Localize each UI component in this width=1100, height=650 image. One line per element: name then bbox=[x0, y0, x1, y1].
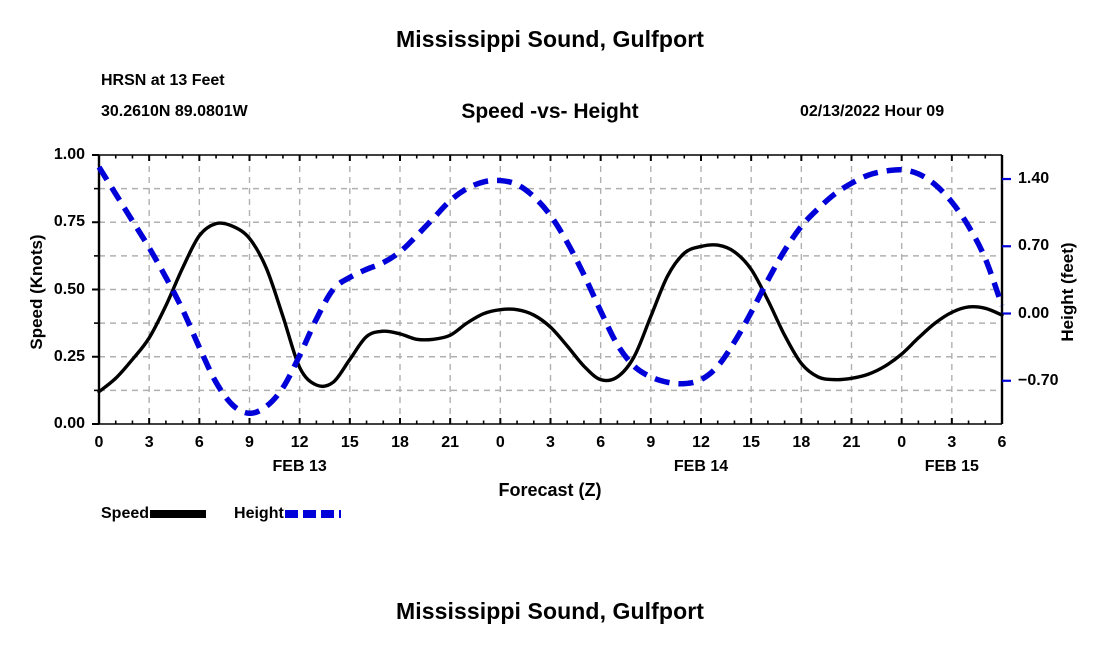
x-axis-tick-label: 3 bbox=[129, 434, 169, 452]
legend-swatch-height-icon bbox=[285, 510, 341, 518]
x-axis-tick-label: 3 bbox=[932, 434, 972, 452]
x-axis-tick-label: 9 bbox=[230, 434, 270, 452]
x-axis-day-label: FEB 14 bbox=[641, 458, 761, 476]
y-axis-left-tick-label: 1.00 bbox=[25, 146, 85, 164]
chart-legend: Speed Height bbox=[101, 505, 341, 523]
legend-label-speed: Speed bbox=[101, 505, 149, 523]
y-axis-right-tick-label: 1.40 bbox=[1018, 170, 1088, 188]
x-axis-tick-label: 6 bbox=[581, 434, 621, 452]
x-axis-tick-label: 15 bbox=[731, 434, 771, 452]
x-axis-day-label: FEB 15 bbox=[892, 458, 1012, 476]
y-axis-left-tick-label: 0.75 bbox=[25, 213, 85, 231]
y-axis-right-tick-label: −0.70 bbox=[1018, 372, 1088, 390]
x-axis-tick-label: 21 bbox=[430, 434, 470, 452]
legend-label-height: Height bbox=[234, 505, 284, 523]
x-axis-tick-label: 18 bbox=[380, 434, 420, 452]
x-axis-tick-label: 9 bbox=[631, 434, 671, 452]
x-axis-tick-label: 12 bbox=[280, 434, 320, 452]
bottom-title: Mississippi Sound, Gulfport bbox=[0, 598, 1100, 625]
legend-swatch-speed-icon bbox=[150, 510, 206, 518]
y-axis-left-tick-label: 0.50 bbox=[25, 281, 85, 299]
y-axis-right-tick-label: 0.70 bbox=[1018, 237, 1088, 255]
y-axis-right-tick-label: 0.00 bbox=[1018, 305, 1088, 323]
x-axis-tick-label: 21 bbox=[832, 434, 872, 452]
chart-page: Mississippi Sound, Gulfport HRSN at 13 F… bbox=[0, 0, 1100, 650]
legend-entry-speed: Speed bbox=[101, 505, 206, 523]
x-axis-day-label: FEB 13 bbox=[240, 458, 360, 476]
x-axis-tick-label: 0 bbox=[480, 434, 520, 452]
x-axis-tick-label: 3 bbox=[531, 434, 571, 452]
x-axis-tick-label: 18 bbox=[781, 434, 821, 452]
x-axis-tick-label: 12 bbox=[681, 434, 721, 452]
y-axis-left-tick-label: 0.25 bbox=[25, 348, 85, 366]
y-axis-left-tick-label: 0.00 bbox=[25, 415, 85, 433]
x-axis-tick-label: 6 bbox=[982, 434, 1022, 452]
legend-entry-height: Height bbox=[234, 505, 341, 523]
tick-label-layer: 0.000.250.500.751.00−0.700.000.701.40036… bbox=[0, 0, 1100, 650]
x-axis-tick-label: 0 bbox=[79, 434, 119, 452]
x-axis-tick-label: 15 bbox=[330, 434, 370, 452]
x-axis-tick-label: 6 bbox=[179, 434, 219, 452]
x-axis-tick-label: 0 bbox=[882, 434, 922, 452]
